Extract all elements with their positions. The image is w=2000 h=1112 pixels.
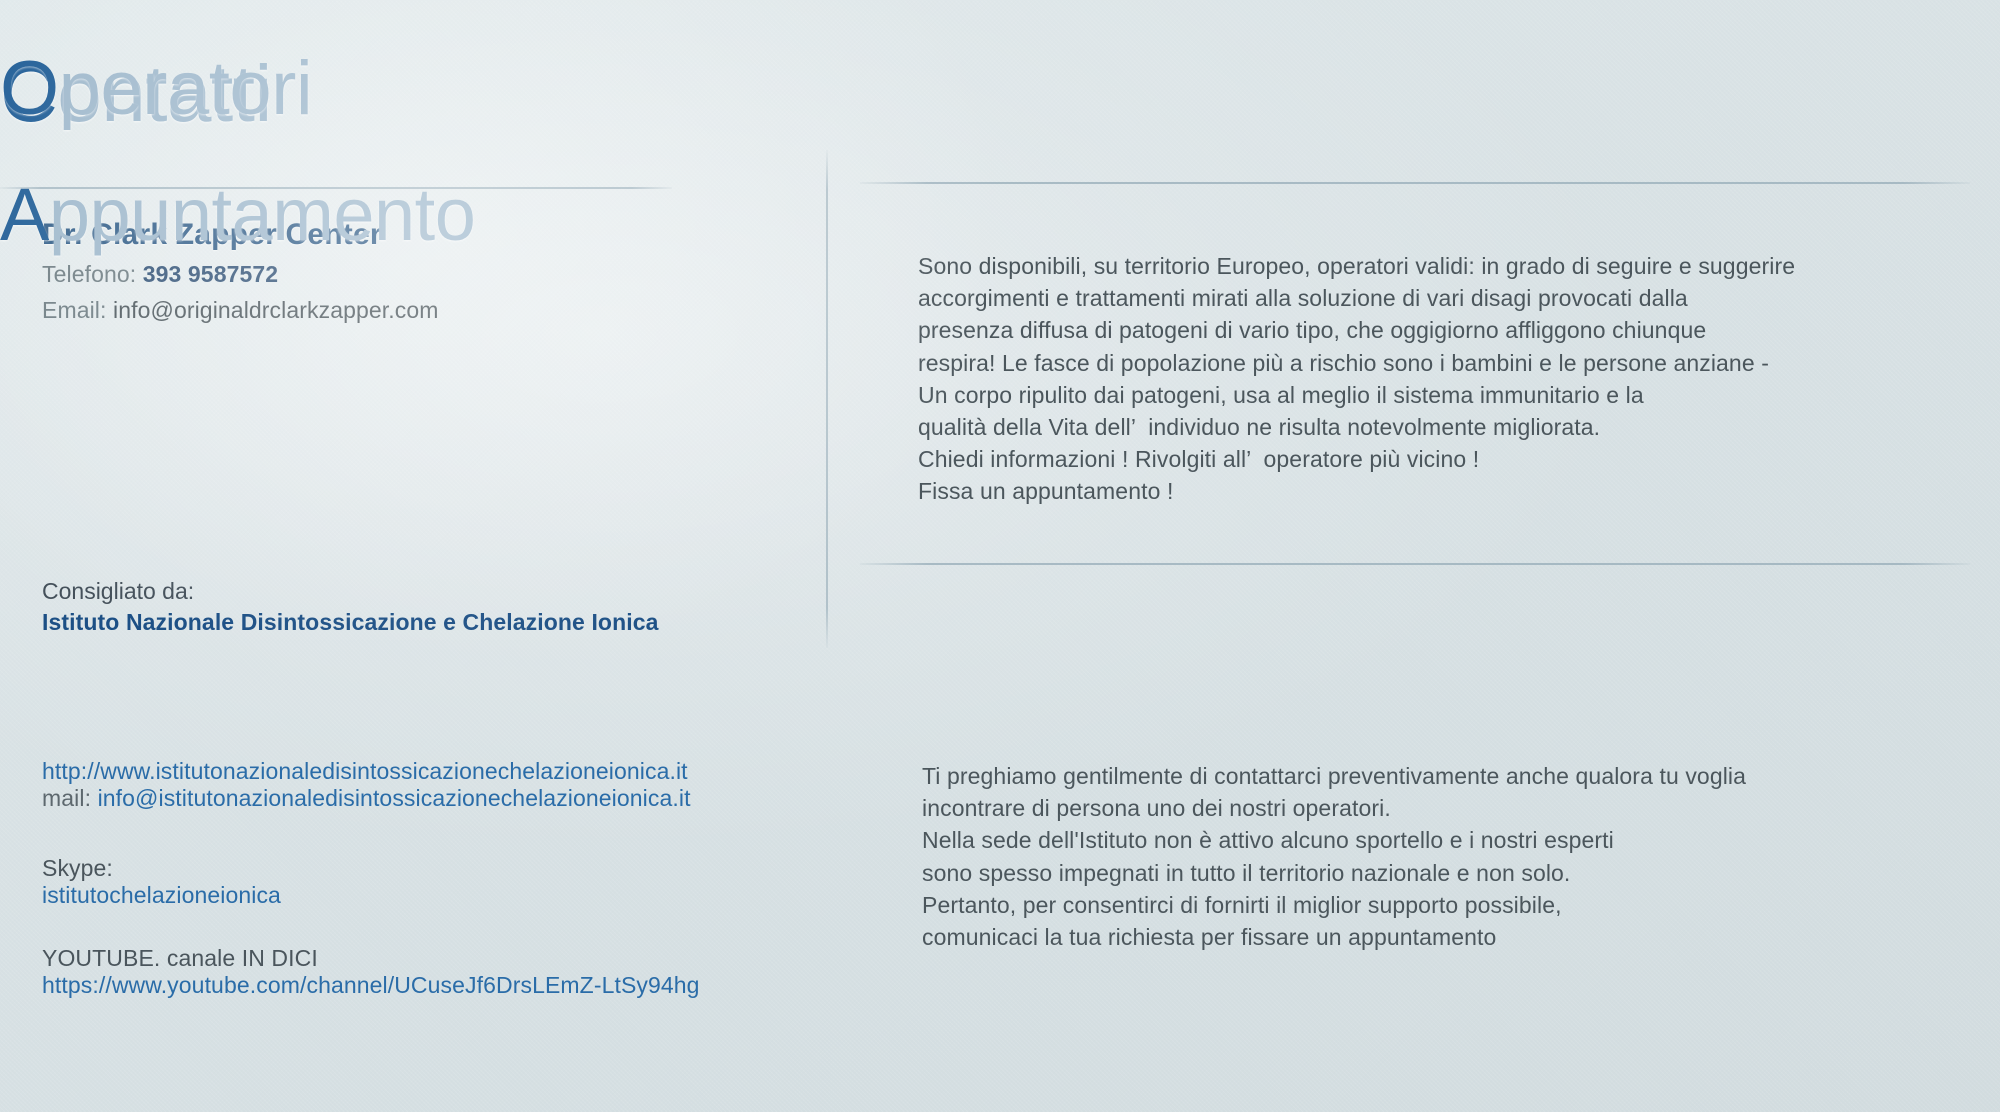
operatori-line: Sono disponibili, su territorio Europeo,… [918,250,1958,282]
title-appuntamento-rest: ppuntamento [49,173,476,256]
mail-label: mail: [42,785,91,811]
divider-appuntamento [860,563,1970,565]
web-links-block: http://www.istitutonazionaledisintossica… [42,758,691,812]
page-title-appuntamento: Appuntamento [0,178,2000,252]
mail-row: mail: info@istitutonazionaledisintossica… [42,785,691,812]
website-link[interactable]: http://www.istitutonazionaledisintossica… [42,758,691,785]
phone-row: Telefono: 393 9587572 [42,261,439,288]
operatori-line: accorgimenti e trattamenti mirati alla s… [918,282,1958,314]
appuntamento-line: comunicaci la tua richiesta per fissare … [922,921,1962,953]
skype-handle[interactable]: istitutochelazioneionica [42,882,281,909]
appuntamento-line: Pertanto, per consentirci di fornirti il… [922,889,1962,921]
youtube-link[interactable]: https://www.youtube.com/channel/UCuseJf6… [42,972,700,999]
appuntamento-paragraph: Ti preghiamo gentilmente di contattarci … [922,760,1962,953]
appuntamento-line: sono spesso impegnati in tutto il territ… [922,857,1962,889]
skype-label: Skype: [42,855,281,882]
page-title-operatori: Operatori [0,51,2000,127]
email-row: Email: info@originaldrclarkzapper.com [42,297,439,324]
phone-value: 393 9587572 [143,261,278,287]
appuntamento-line: incontrare di persona uno dei nostri ope… [922,792,1962,824]
operatori-paragraph: Sono disponibili, su territorio Europeo,… [918,250,1958,508]
skype-block: Skype: istitutochelazioneionica [42,855,281,909]
drop-cap-o: O [0,46,59,131]
youtube-label: YOUTUBE. canale IN DICI [42,945,700,972]
phone-label: Telefono: [42,261,136,287]
appuntamento-line: Nella sede dell'Istituto non è attivo al… [922,824,1962,856]
operatori-line: respira! Le fasce di popolazione più a r… [918,347,1958,379]
operatori-line: presenza diffusa di patogeni di vario ti… [918,314,1958,346]
operatori-line: Chiedi informazioni ! Rivolgiti all’ ope… [918,443,1958,475]
left-column: Contatti Dr. Clark Zapper Center Telefon… [0,0,826,1112]
recommended-by-label: Consigliato da: [42,578,659,605]
drop-cap-a: A [0,173,49,256]
email-value: info@originaldrclarkzapper.com [113,297,439,323]
appuntamento-line: Ti preghiamo gentilmente di contattarci … [922,760,1962,792]
operatori-line: qualità della Vita dell’ individuo ne ri… [918,411,1958,443]
recommended-by-block: Consigliato da: Istituto Nazionale Disin… [42,578,659,636]
title-operatori-rest: peratori [59,46,313,131]
youtube-block: YOUTUBE. canale IN DICI https://www.yout… [42,945,700,999]
operatori-line: Fissa un appuntamento ! [918,475,1958,507]
recommended-by-organization: Istituto Nazionale Disintossicazione e C… [42,609,659,636]
mail-link[interactable]: info@istitutonazionaledisintossicazionec… [98,785,691,811]
email-label: Email: [42,297,107,323]
operatori-line: Un corpo ripulito dai patogeni, usa al m… [918,379,1958,411]
slide-canvas: Contatti Dr. Clark Zapper Center Telefon… [0,0,2000,1112]
